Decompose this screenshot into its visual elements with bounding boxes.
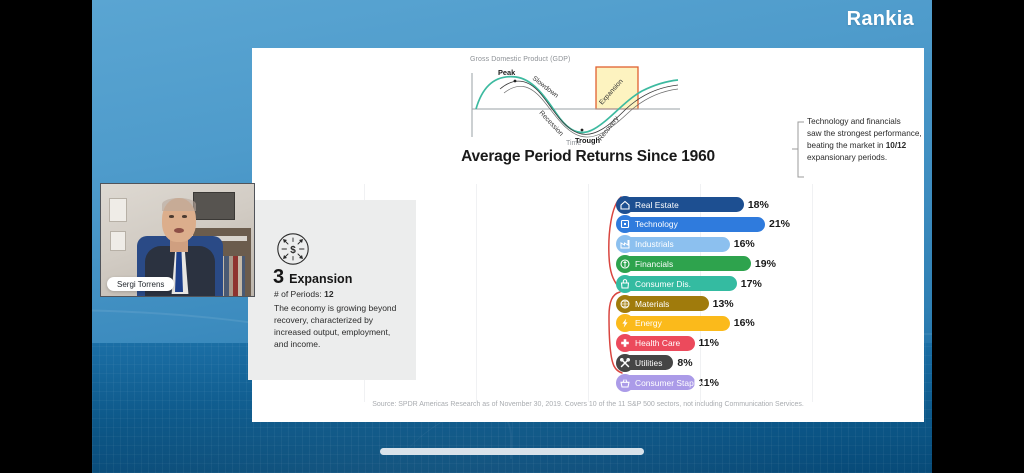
gdp-cycle-diagram: Gross Domestic Product (GDP) Peak Trough… [470, 56, 695, 151]
bar-row: Health Care11% [617, 334, 817, 351]
annotation-bracket-icon [791, 120, 805, 180]
gdp-time-axis-label: Time [566, 140, 581, 147]
annotation-line-4: expansionary periods. [807, 153, 887, 162]
bar-label: Real Estate [635, 200, 679, 210]
annotation-line-3: beating the market in [807, 141, 886, 150]
bar-row: Industrials16% [617, 236, 817, 253]
bar-label: Energy [635, 318, 662, 328]
bar-label: Materials [635, 299, 669, 309]
video-progress-fill [380, 448, 644, 455]
bar-real-estate: Real Estate [617, 197, 744, 212]
annotation-line-2: saw the strongest performance, [807, 129, 922, 138]
bar-energy: Energy [617, 316, 730, 331]
bar-label: Industrials [635, 239, 674, 249]
expanding-dollar-icon: $ [276, 232, 310, 266]
bar-row: Energy16% [617, 315, 817, 332]
basket-icon [616, 374, 634, 392]
chip-icon [616, 215, 634, 233]
bar-label: Utilities [635, 358, 662, 368]
bar-consumer-dis: Consumer Dis. [617, 276, 737, 291]
bar-value: 21% [769, 218, 790, 230]
bar-value: 11% [699, 337, 719, 349]
annotation-text: Technology and financials saw the strong… [807, 116, 927, 164]
video-progress-bar[interactable] [380, 448, 644, 455]
bag-icon [616, 275, 634, 293]
bar-industrials: Industrials [617, 237, 730, 252]
bar-consumer-staples: Consumer Staples [617, 375, 695, 390]
periods-value: 12 [324, 289, 333, 299]
bar-row: Materials13% [617, 295, 817, 312]
source-footnote: Source: SPDR Americas Research as of Nov… [252, 401, 924, 408]
participant-name-badge: Sergi Torrens [107, 277, 174, 291]
bar-value: 17% [741, 278, 762, 290]
bar-materials: Materials [617, 296, 709, 311]
bar-value: 16% [734, 238, 755, 250]
bar-label: Consumer Dis. [635, 279, 691, 289]
bar-label: Health Care [635, 338, 680, 348]
wall-picture [193, 192, 235, 220]
participant-video-tile[interactable]: Sergi Torrens [100, 183, 255, 297]
bar-health-care: Health Care [617, 336, 695, 351]
phase-description: The economy is growing beyond recovery, … [274, 302, 402, 350]
expansion-info-panel: $ 3 Expansion [248, 200, 416, 380]
person-mouth [174, 228, 184, 233]
person-hair [162, 198, 196, 211]
bank-icon [616, 255, 634, 273]
bar-row: Real Estate18% [617, 196, 817, 213]
screen: Rankia Gross Domestic Product (GDP) Peak… [0, 0, 1024, 473]
bar-row: Technology21% [617, 216, 817, 233]
bar-label: Consumer Staples [635, 378, 705, 388]
molecule-icon [616, 295, 634, 313]
tools-icon [616, 354, 634, 372]
periods-count: # of Periods: 12 [274, 289, 334, 299]
phase-number: 3 [273, 267, 284, 287]
grid-line [588, 184, 589, 402]
sector-returns-bar-chart: Real Estate18%Technology21%Industrials16… [617, 196, 817, 394]
person-eye [169, 215, 174, 218]
bar-financials: Financials [617, 256, 751, 271]
wall-picture [110, 231, 126, 251]
chart-annotation: Technology and financials saw the strong… [807, 116, 927, 164]
video-player-frame: Rankia Gross Domestic Product (GDP) Peak… [92, 0, 932, 473]
bar-label: Technology [635, 219, 678, 229]
bar-row: Utilities8% [617, 354, 817, 371]
person-eye [182, 215, 187, 218]
wall-picture [109, 198, 127, 222]
svg-text:Peak: Peak [498, 68, 516, 77]
cross-icon [616, 334, 634, 352]
gdp-axis-label: Gross Domestic Product (GDP) [470, 56, 570, 63]
bolt-icon [616, 314, 634, 332]
bar-row: Financials19% [617, 255, 817, 272]
gdp-cycle-svg: Peak Trough Slowdown Recession Recovery … [470, 65, 695, 145]
phase-name: Expansion [289, 272, 352, 286]
rankia-logo: Rankia [847, 8, 914, 31]
presentation-slide: Gross Domestic Product (GDP) Peak Trough… [252, 48, 924, 422]
bar-value: 19% [755, 258, 776, 270]
home-icon [616, 196, 634, 214]
bar-utilities: Utilities [617, 355, 673, 370]
annotation-line-1: Technology and financials [807, 117, 901, 126]
expansion-heading: 3 Expansion [273, 267, 352, 287]
svg-text:Recession: Recession [538, 110, 565, 138]
factory-icon [616, 235, 634, 253]
bar-value: 16% [734, 317, 755, 329]
bar-row: Consumer Staples11% [617, 374, 817, 391]
bar-value: 8% [677, 357, 692, 369]
grid-line [476, 184, 477, 402]
bar-row: Consumer Dis.17% [617, 275, 817, 292]
bar-value: 18% [748, 199, 769, 211]
svg-text:$: $ [290, 245, 296, 256]
bar-value: 13% [713, 298, 734, 310]
bar-technology: Technology [617, 217, 765, 232]
periods-label: # of Periods: [274, 289, 322, 299]
annotation-highlight: 10/12 [886, 141, 907, 150]
bar-label: Financials [635, 259, 673, 269]
